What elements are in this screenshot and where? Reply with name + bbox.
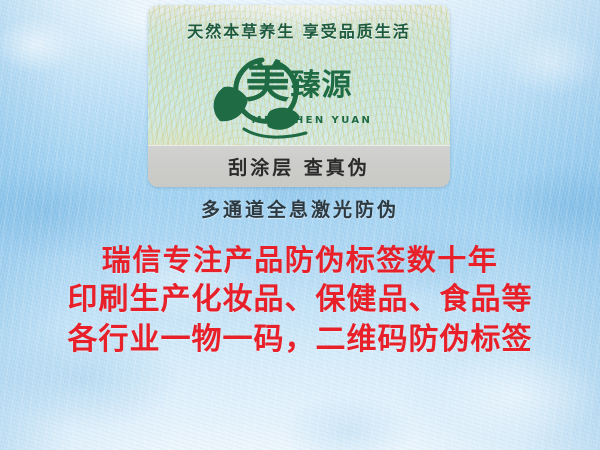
brand-pinyin: MEI ZHEN YUAN (148, 115, 450, 126)
anti-counterfeit-label-card[interactable]: 天然本草养生 享受品质生活 美臻源 MEI ZHEN YUAN 刮涂层 查真伪 (148, 5, 450, 187)
promo-text-block: 瑞信专注产品防伪标签数十年 印刷生产化妆品、保健品、食品等 各行业一物一码，二维… (0, 240, 600, 360)
holographic-caption: 多通道全息激光防伪 (0, 195, 600, 222)
brand-name: 美臻源 (148, 61, 450, 105)
promo-line-1: 瑞信专注产品防伪标签数十年 (0, 240, 600, 280)
poster-canvas: 天然本草养生 享受品质生活 美臻源 MEI ZHEN YUAN 刮涂层 查真伪 … (0, 0, 600, 450)
brand-name-primary: 美 (246, 57, 291, 108)
brand-logo: 美臻源 MEI ZHEN YUAN (148, 49, 450, 143)
scratch-off-panel[interactable]: 刮涂层 查真伪 (148, 145, 450, 187)
card-tagline: 天然本草养生 享受品质生活 (148, 18, 450, 42)
promo-line-3: 各行业一物一码，二维码防伪标签 (0, 320, 600, 360)
scratch-panel-label: 刮涂层 查真伪 (228, 153, 370, 180)
brand-name-secondary: 臻源 (291, 68, 353, 103)
promo-line-2: 印刷生产化妆品、保健品、食品等 (0, 280, 600, 320)
